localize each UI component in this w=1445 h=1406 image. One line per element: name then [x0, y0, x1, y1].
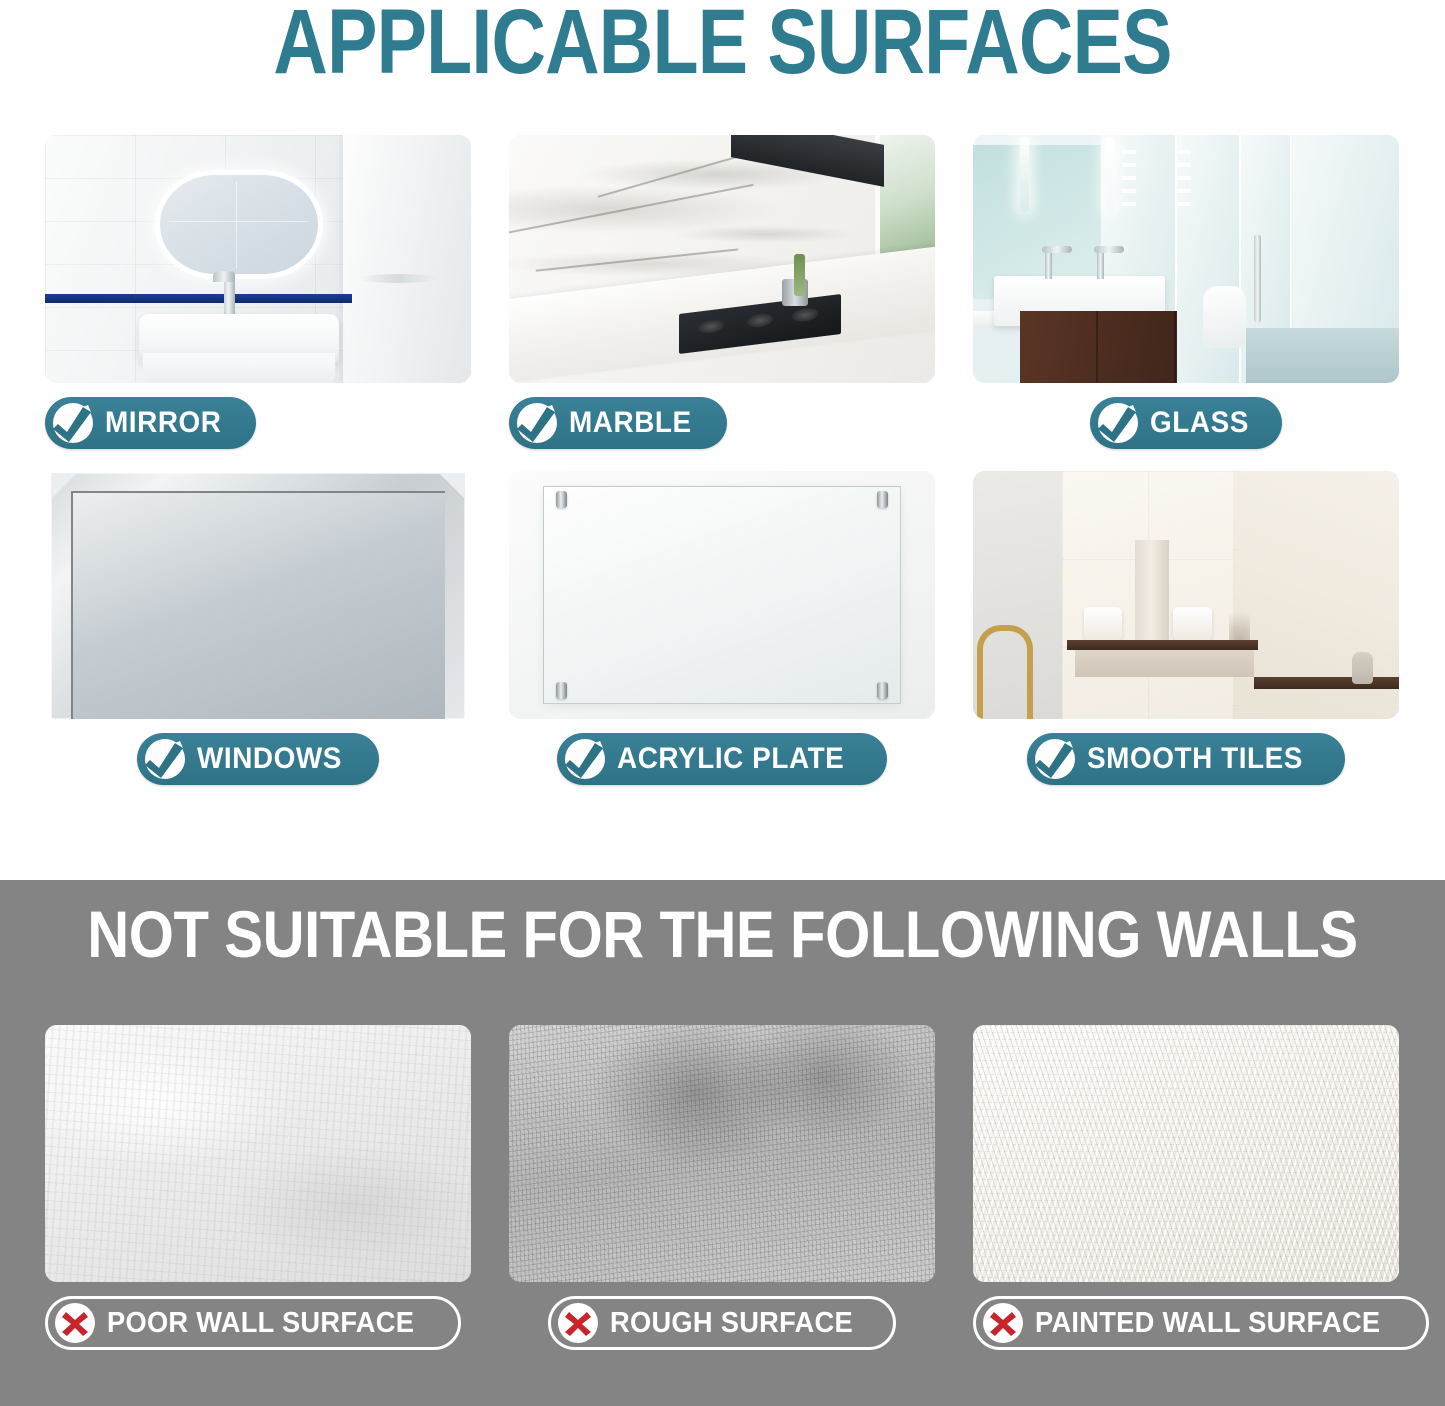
- glass-bathroom-photo: [973, 135, 1399, 383]
- surface-card-glass: GLASS: [973, 135, 1399, 449]
- applicable-grid: MIRROR: [45, 135, 1400, 785]
- check-icon: [565, 739, 605, 779]
- surface-card-mirror: MIRROR: [45, 135, 471, 449]
- badge-mirror[interactable]: MIRROR: [45, 397, 256, 449]
- badge-label: GLASS: [1150, 406, 1249, 440]
- check-icon: [517, 403, 557, 443]
- applicable-surfaces-section: APPLICABLE SURFACES: [0, 0, 1445, 880]
- badge-marble[interactable]: MARBLE: [509, 397, 727, 449]
- smooth-tile-bathroom-photo: [973, 471, 1399, 719]
- surface-card-marble: MARBLE: [509, 135, 935, 449]
- check-icon: [145, 739, 185, 779]
- badge-label: PAINTED WALL SURFACE: [1035, 1307, 1380, 1340]
- badge-rough-surface[interactable]: ROUGH SURFACE: [548, 1296, 895, 1350]
- not-suitable-grid: POOR WALL SURFACE: [45, 1025, 1400, 1350]
- rough-wall-texture-photo: [509, 1025, 935, 1282]
- check-icon: [53, 403, 93, 443]
- bathroom-mirror-photo: [45, 135, 471, 383]
- applicable-row-2: WINDOWS: [45, 471, 1400, 785]
- badge-label: ROUGH SURFACE: [610, 1307, 853, 1340]
- not-suitable-row: POOR WALL SURFACE: [45, 1025, 1400, 1350]
- bad-surface-card-rough: ROUGH SURFACE: [509, 1025, 935, 1350]
- acrylic-panel-photo: [509, 471, 935, 719]
- x-icon: [55, 1303, 95, 1343]
- badge-label: WINDOWS: [197, 742, 342, 776]
- bad-surface-card-poor-wall: POOR WALL SURFACE: [45, 1025, 471, 1350]
- surface-card-smooth-tiles: SMOOTH TILES: [973, 471, 1399, 785]
- badge-label: MIRROR: [105, 406, 221, 440]
- badge-label: SMOOTH TILES: [1087, 742, 1303, 776]
- bad-surface-card-painted-wall: PAINTED WALL SURFACE: [973, 1025, 1399, 1350]
- poor-wall-texture-photo: [45, 1025, 471, 1282]
- badge-windows[interactable]: WINDOWS: [137, 733, 379, 785]
- applicable-row-1: MIRROR: [45, 135, 1400, 449]
- section-title: NOT SUITABLE FOR THE FOLLOWING WALLS: [87, 900, 1359, 969]
- badge-label: POOR WALL SURFACE: [107, 1307, 414, 1340]
- page-title: APPLICABLE SURFACES: [130, 0, 1315, 91]
- badge-glass[interactable]: GLASS: [1090, 397, 1282, 449]
- aluminium-window-photo: [45, 471, 471, 719]
- badge-label: ACRYLIC PLATE: [617, 742, 844, 776]
- badge-label: MARBLE: [569, 406, 692, 440]
- x-icon: [558, 1303, 598, 1343]
- painted-wall-texture-photo: [973, 1025, 1399, 1282]
- x-icon: [983, 1303, 1023, 1343]
- not-suitable-section: NOT SUITABLE FOR THE FOLLOWING WALLS: [0, 880, 1445, 1406]
- badge-poor-wall-surface[interactable]: POOR WALL SURFACE: [45, 1296, 461, 1350]
- surface-card-windows: WINDOWS: [45, 471, 471, 785]
- surface-card-acrylic: ACRYLIC PLATE: [509, 471, 935, 785]
- badge-acrylic-plate[interactable]: ACRYLIC PLATE: [557, 733, 887, 785]
- marble-backsplash-photo: [509, 135, 935, 383]
- check-icon: [1035, 739, 1075, 779]
- infographic-page: APPLICABLE SURFACES: [0, 0, 1445, 1406]
- badge-painted-wall-surface[interactable]: PAINTED WALL SURFACE: [973, 1296, 1429, 1350]
- check-icon: [1098, 403, 1138, 443]
- badge-smooth-tiles[interactable]: SMOOTH TILES: [1027, 733, 1345, 785]
